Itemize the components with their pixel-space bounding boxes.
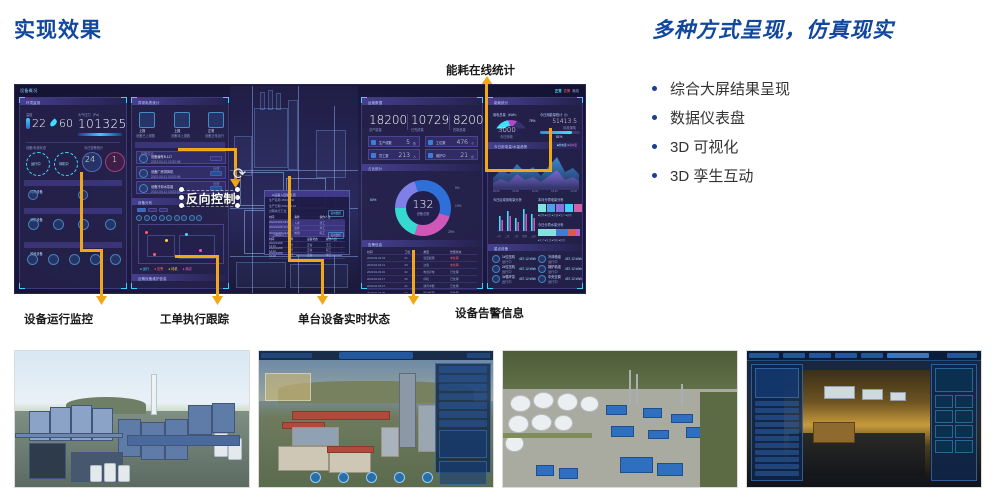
tab[interactable] <box>137 208 146 212</box>
card-field-key: 生产名称 <box>269 198 281 202</box>
tab[interactable] <box>148 208 157 212</box>
info-card-left[interactable] <box>265 373 311 401</box>
list-item-name: 设备冷却水泵组 <box>151 184 173 189</box>
panel-header: 环境监测 <box>20 98 126 105</box>
panel-header: 异常电表统计 <box>132 98 228 105</box>
legend-label: 照明 <box>539 214 544 217</box>
td: 2022/04-03:17 <box>367 277 405 281</box>
donut-slice-label-0: 60% <box>370 198 376 202</box>
device-value: 457.12 kWh <box>519 267 536 271</box>
tile-sub: 设备待上报数 <box>171 133 190 138</box>
thumbnail-strip <box>14 350 986 488</box>
metric-label: 工位数 <box>436 140 446 145</box>
metric-chip: 工位数 476 个 <box>425 136 478 147</box>
tick: 二区 <box>505 234 510 238</box>
flow-line <box>412 250 415 297</box>
tick: 四区 <box>522 234 527 238</box>
donut-header: 占比统计 <box>362 164 482 171</box>
slice-pct: 25% <box>448 230 454 234</box>
selection-handle[interactable] <box>179 187 184 192</box>
metric-value: 213 <box>399 152 410 159</box>
map-legend: ● 运行 ● 告警 ● 待机 ● 离线 <box>140 266 192 271</box>
feature-list: 综合大屏结果呈现 数据仪表盘 3D 可视化 3D 孪生互动 <box>652 74 982 190</box>
flow-line <box>175 255 219 258</box>
list-item-name: 设备厂房排风机 <box>151 169 173 174</box>
slice-pct: 5% <box>455 186 460 190</box>
device-icon <box>538 275 546 283</box>
bullet-dot-icon <box>652 173 657 178</box>
legend-item: ● 待机 <box>168 266 177 271</box>
kpi-label: 总产能量 <box>369 127 382 132</box>
bar-xaxis: 一区 二区 三区 四区 五区 <box>496 234 536 238</box>
td: 2022/04-03:02 <box>367 270 405 274</box>
selection-handle[interactable] <box>179 195 184 200</box>
metric-label: 生产线数 <box>379 140 392 145</box>
map-zone <box>147 235 175 257</box>
side-panel[interactable] <box>435 363 491 473</box>
donut-slice-label-3: 25% <box>448 230 454 234</box>
title-plate <box>339 352 414 359</box>
group-header-fire: 消防设备 <box>24 208 122 214</box>
th: 时间 <box>269 237 288 241</box>
td-status: 已处理 <box>450 284 477 288</box>
td: 电流异常 <box>423 270 450 274</box>
bullet-dot-icon <box>652 144 657 149</box>
status-alarm: 告警 <box>564 89 571 93</box>
legend-item: ● 离线 <box>183 266 192 271</box>
td: 李工 <box>326 253 345 257</box>
table-row: 2022/04/08 15:08 运行 正常 李工 <box>269 253 345 258</box>
corner-icon <box>477 97 483 103</box>
td: 正常 <box>307 253 326 257</box>
device-icon <box>105 219 116 230</box>
device-icon <box>538 265 546 273</box>
td: 李工 <box>320 226 345 230</box>
list-item: 3#循环泵 运行中 457.12 kWh <box>492 274 536 284</box>
th: 类型 <box>423 250 450 254</box>
bullet-dot-icon <box>652 86 657 91</box>
flow-line <box>80 172 83 252</box>
th: 操作人员 <box>326 237 345 241</box>
corner-icon <box>131 97 137 103</box>
td: 振动超限 <box>423 291 450 294</box>
card-title: A设备入园信息流 <box>265 191 349 197</box>
flow-line <box>549 128 552 172</box>
group-header-other: 其他设备 <box>24 242 122 248</box>
stack-bar <box>538 229 580 236</box>
th: 操作人员 <box>320 215 345 219</box>
bar-title: 今日区域用电量分析 <box>493 197 522 202</box>
table-header-row: 时间 工位 类型 告警状态 <box>367 249 477 254</box>
device-icon <box>28 190 38 200</box>
rate-pct: 81% <box>556 135 562 139</box>
device-icon <box>139 154 148 163</box>
gauge-value: 3000 <box>498 126 516 134</box>
table-row: 2022/04-04:05 04 振动超限 已处理 <box>367 289 477 294</box>
humidity-icon <box>49 118 58 127</box>
list-item-label: 3D 孪生互动 <box>670 165 753 186</box>
th: 时间 <box>367 250 405 254</box>
list-item: 1#空压机 运行中 457.12 kWh <box>492 254 536 264</box>
layout-tabs[interactable] <box>137 208 168 212</box>
rate-title: 今日用能量统计（t） <box>540 112 570 117</box>
corner-icon <box>121 97 127 103</box>
table-row: 2022/04-02:41 03 过载 未处理 <box>367 261 477 268</box>
flow-line <box>100 249 103 297</box>
corner-icon <box>19 283 25 289</box>
corner-icon <box>223 97 229 103</box>
legend-item: ● 运行 <box>140 266 149 271</box>
td: 2022/04-02:41 <box>367 263 405 267</box>
callout-label-0: 设备运行监控 <box>24 311 93 327</box>
flow-line <box>288 259 324 262</box>
corner-icon <box>223 283 229 289</box>
metric-unit: 条 <box>413 141 416 146</box>
action-button[interactable]: 处理 <box>210 171 222 176</box>
gauge-sub: 今日用电 <box>500 134 513 139</box>
group-header-common: 共用设备 <box>24 180 122 186</box>
device-value: 457.12 kWh <box>565 277 582 281</box>
td: 温度超限 <box>423 256 450 260</box>
trend-legend: ■用电量 ■用水量 <box>557 143 577 147</box>
pressure-value: 101325 <box>78 117 127 131</box>
table-row: 2022/04-03:17 05 停机 已处理 <box>367 275 477 282</box>
topbar <box>259 351 493 360</box>
device-value: 457.12 kWh <box>565 267 582 271</box>
device-icon <box>139 184 148 193</box>
flow-line <box>485 169 552 172</box>
left-panel[interactable] <box>751 364 803 481</box>
card-field-key: 生产日期 <box>269 204 281 208</box>
list-item-time: 2022-04-11 10:32:08 <box>151 160 180 164</box>
corner-icon <box>131 283 137 289</box>
map-marker <box>145 231 148 234</box>
trend-xaxis: 00:00 06:00 12:00 18:00 24:00 <box>493 190 577 193</box>
floor-dot[interactable] <box>136 215 142 221</box>
flow-line <box>485 82 488 172</box>
td: 出库 <box>294 226 319 230</box>
td: 王工 <box>326 243 345 247</box>
device-sub: 运行中 <box>502 279 519 284</box>
legend-label: 生活 <box>546 239 551 242</box>
rate-progress-fill <box>540 131 572 134</box>
table-row: 2022/04-02:33 01 温度超限 未处理 <box>367 254 477 261</box>
slice-pct: 10% <box>455 204 461 208</box>
corner-icon <box>361 97 367 103</box>
td: 2022/04-02:33 <box>367 256 405 260</box>
legend-item: ● 告警 <box>154 266 163 271</box>
legend-label: 消防 <box>553 239 558 242</box>
th: 事件 <box>294 215 319 219</box>
tile-icon <box>139 112 155 128</box>
tick: 18:00 <box>551 190 558 193</box>
card-field: 生产名称 25647890 <box>269 198 349 202</box>
metric-unit: 台 <box>471 154 474 159</box>
corner-icon <box>121 283 127 289</box>
region-bar-chart <box>493 206 535 234</box>
td: 正常 <box>307 248 326 252</box>
list-item[interactable]: 设备编号B-117 2022-04-11 10:32:08 处理 <box>136 151 226 164</box>
metric-chip: 生产线数 5 条 <box>368 136 420 147</box>
metric-value: 21 <box>460 152 468 159</box>
kpi-label: 已完成量 <box>411 127 424 132</box>
panel-header: 运营数据 <box>362 98 482 105</box>
td: 检测 <box>294 231 319 235</box>
list-item: 综合大屏结果呈现 <box>652 74 982 103</box>
heat-title: 本月分项电量分布 <box>538 197 564 202</box>
device-icon <box>492 265 500 273</box>
tower <box>399 373 415 448</box>
rate-progress-track <box>540 131 580 134</box>
floor <box>789 433 925 477</box>
status-offline: 离线 <box>572 89 579 93</box>
list-item-time: 2022-04-11 10:03:08 <box>151 190 180 194</box>
floor-dot[interactable] <box>159 215 165 221</box>
td: 过载 <box>423 263 450 267</box>
card-field: 生产日期 2022-04-10 <box>269 204 349 208</box>
arrow-down-icon <box>408 294 419 305</box>
donut-slice-label-1: 5% <box>455 186 460 190</box>
panel-environment: 环境监测 温度 22 60 大气压力（Pa） 101325 设备/系统状态 运行… <box>19 97 127 289</box>
metric-value: 5 <box>406 139 410 146</box>
action-button[interactable]: 处理 <box>210 156 222 161</box>
heat-legend: ■照明 ■动力 ■空调 ■生产 ■其他 <box>538 214 580 218</box>
slide-root: 实现效果 多种方式呈现，仿真现实 综合大屏结果呈现 数据仪表盘 3D 可视化 3… <box>0 0 1000 498</box>
floorplan-map[interactable] <box>138 224 224 264</box>
tick: 一区 <box>496 234 501 238</box>
floor-dot[interactable] <box>151 215 157 221</box>
legend-label: 其他 <box>567 214 572 217</box>
topbar <box>747 351 981 361</box>
td: 程工 <box>326 248 345 252</box>
flow-line <box>216 255 219 297</box>
menu-group <box>261 353 312 358</box>
legend-label: 其他 <box>560 239 565 242</box>
page-title-left: 实现效果 <box>14 14 102 44</box>
callout-label-2: 单台设备实时状态 <box>298 311 390 327</box>
run-state-a-label: 运行中 <box>31 161 41 166</box>
td: 正常 <box>307 243 326 247</box>
tick: 三区 <box>514 234 519 238</box>
list-item[interactable]: 设备厂房排风机 2022-04-11 10:22:56 处理 <box>136 166 226 179</box>
humidity-value: 60 <box>59 117 73 130</box>
floor-dot[interactable] <box>181 215 187 221</box>
metric-chip: 员工数 213 人 <box>368 149 420 160</box>
overlay-label-reverse-control: 反向控制 <box>186 190 236 207</box>
rate-unit: 标准煤吨 <box>563 125 576 130</box>
divider <box>449 114 450 130</box>
stack-legend: ■生产 ■生活 ■消防 ■其他 <box>538 238 565 242</box>
tile-sub: 设备已上报数 <box>136 133 155 138</box>
corner-icon <box>19 97 25 103</box>
metric-unit: 人 <box>413 154 416 159</box>
metric-icon <box>371 153 376 158</box>
panel-operations: 运营数据 18200 总产能量 10729 已完成量 8200 在制品量 生产线… <box>361 97 483 289</box>
temperature-value: 22 <box>32 117 46 130</box>
device-icon <box>139 169 148 178</box>
legend-label: 生产 <box>539 239 544 242</box>
th: 告警状态 <box>450 250 477 254</box>
td-status: 已处理 <box>450 270 477 274</box>
legend-label: 生产 <box>560 214 565 217</box>
dashboard-title: 设备概况 <box>20 88 38 94</box>
thumbnail-warehouse-twin[interactable] <box>746 350 982 488</box>
device-value: 457.12 kWh <box>565 257 582 261</box>
thumbnail-refinery-aerial[interactable] <box>502 350 738 488</box>
stack-title: 今日分项水量分布 <box>538 222 564 227</box>
alarm-critical-value: 1 <box>112 155 117 164</box>
metric-label: 员工数 <box>379 153 389 158</box>
panel-header: 能耗统计 <box>488 98 582 105</box>
flow-line <box>178 148 237 151</box>
td-status: 未处理 <box>450 256 477 260</box>
rate-value: 51413.5 <box>552 118 577 125</box>
td: 2022/04-03:47 <box>367 284 405 288</box>
pallet-stack <box>813 422 855 444</box>
list-item-time: 2022-04-11 10:22:56 <box>151 175 180 179</box>
device-value: 457.12 kWh <box>519 277 536 281</box>
arrow-down-icon <box>96 294 107 305</box>
chimney <box>151 374 157 415</box>
device-icon <box>48 254 59 265</box>
gauge-pct: 75% <box>529 119 535 123</box>
corner-icon <box>577 97 583 103</box>
legend-label: 用水量 <box>569 144 577 147</box>
runstate-label: 设备/系统状态 <box>26 145 46 150</box>
corner-icon <box>477 283 483 289</box>
legend-label: 用电量 <box>559 144 567 147</box>
heat-blocks <box>538 204 582 212</box>
alarm-table-header: 告警信息 <box>362 240 482 247</box>
run-state-b-label: 待机中 <box>59 161 69 166</box>
metric-value: 476 <box>457 139 468 146</box>
donut-center-label: 设备总数 <box>395 211 451 216</box>
device-icon <box>492 275 500 283</box>
page-title-right: 多种方式呈现，仿真现实 <box>652 14 894 44</box>
tick: 00:00 <box>493 190 500 193</box>
kpi-value: 18200 <box>369 113 407 127</box>
metric-chip: 维护中 21 台 <box>425 149 478 160</box>
td-status: 已处理 <box>450 277 477 281</box>
device-icon <box>27 254 38 265</box>
callout-label-1: 工单执行跟踪 <box>160 311 229 327</box>
right-panel[interactable] <box>931 364 977 481</box>
td-status: 已处理 <box>450 291 477 294</box>
table-row: 2022/04-03:02 02 电流异常 已处理 <box>367 268 477 275</box>
legend-label: 空调 <box>553 214 558 217</box>
table-row: 2022/04-03:47 01 通讯中断 已处理 <box>367 282 477 289</box>
metric-icon <box>428 153 433 158</box>
key-device-col-left: 1#空压机 运行中 457.12 kWh 2#空压机 运行中 457.12 kW… <box>492 254 536 284</box>
donut-slice-label-2: 10% <box>455 204 461 208</box>
flow-line <box>321 259 324 297</box>
floor-dot[interactable] <box>196 215 202 221</box>
device-icon <box>110 254 121 265</box>
donut-center-value: 132 <box>395 198 451 211</box>
callout-label-3: 设备告警信息 <box>455 305 524 321</box>
floor-dot[interactable] <box>144 215 150 221</box>
tick: 06:00 <box>512 190 519 193</box>
alarm-count-value: 24 <box>85 155 95 164</box>
divider <box>407 114 408 130</box>
kpi-value: 8200 <box>453 113 484 127</box>
tile-icon <box>208 112 224 128</box>
floor-dot[interactable] <box>174 215 180 221</box>
floor-dot[interactable] <box>166 215 172 221</box>
list-item: 中央空调 运行中 457.12 kWh <box>538 274 582 284</box>
tab[interactable] <box>159 208 168 212</box>
td-status: 未处理 <box>450 263 477 267</box>
td: 2022/04-04:05 <box>367 291 405 294</box>
td: 停机 <box>423 277 450 281</box>
list-item: 3D 可视化 <box>652 132 982 161</box>
device-icon <box>492 255 500 263</box>
list-item-name: 设备编号B-117 <box>151 154 172 159</box>
refresh-rotate-icon[interactable]: ⟳ <box>231 166 248 183</box>
metric-label: 维护中 <box>436 153 446 158</box>
slice-pct: 60% <box>370 198 376 202</box>
pressure-bar <box>78 133 122 136</box>
arrow-down-icon <box>212 294 223 305</box>
status-normal: 正常 <box>555 89 562 93</box>
thermometer-icon <box>26 118 30 129</box>
tick: 12:00 <box>532 190 539 193</box>
dashboard-status-legend: 正常 告警 离线 <box>555 88 579 93</box>
td: 张工 <box>320 221 345 225</box>
list-item-label: 综合大屏结果呈现 <box>670 78 790 99</box>
list-item: 冷却塔组 运行中 457.12 kWh <box>538 254 582 264</box>
maint-table-header: 近期设备维护信息 <box>132 274 228 281</box>
arrow-down-icon <box>317 294 328 305</box>
card-table-2: 时间 事件 设备状态 操作人员 2022/04/08 13:10 运行 正常 王… <box>269 237 345 259</box>
metric-icon <box>371 140 376 145</box>
legend-label: 动力 <box>546 214 551 217</box>
list-item-label: 数据仪表盘 <box>670 107 745 128</box>
tile-icon <box>174 112 190 128</box>
divider <box>26 142 120 143</box>
list-item: 锅炉机组 运行中 457.12 kWh <box>538 264 582 274</box>
thumbnail-cement-plant-twin[interactable] <box>258 350 494 488</box>
donut-chart: 132 设备总数 <box>395 180 451 236</box>
thumbnail-chemical-plant-3d[interactable] <box>14 350 250 488</box>
menu-group <box>467 353 490 358</box>
list-item: 数据仪表盘 <box>652 103 982 132</box>
floor-dot[interactable] <box>189 215 195 221</box>
forest <box>503 351 737 392</box>
alarm-stat-label: 今日告警统计 <box>84 145 103 150</box>
bottom-nav[interactable] <box>310 472 436 484</box>
list-item-label: 3D 可视化 <box>670 136 738 157</box>
bullet-dot-icon <box>652 115 657 120</box>
gauge-title: 用电总量（kWh） <box>493 112 519 117</box>
selection-handle[interactable] <box>179 203 184 208</box>
alarm-table: 时间 工位 类型 告警状态 2022/04-02:33 01 温度超限 未处理 … <box>367 249 477 294</box>
device-icon <box>53 219 64 230</box>
metric-unit: 个 <box>471 141 474 146</box>
model-info-card[interactable]: A设备入园信息流 生产名称 25647890 生产日期 2022-04-10 过… <box>264 190 350 255</box>
kpi-label: 在制品量 <box>453 127 466 132</box>
tick: 24:00 <box>571 190 578 193</box>
th: 设备状态 <box>307 237 326 241</box>
device-icon <box>69 254 80 265</box>
floor-selector[interactable] <box>136 215 202 221</box>
key-device-col-right: 冷却塔组 运行中 457.12 kWh 锅炉机组 运行中 457.12 kWh <box>538 254 582 284</box>
flow-line <box>288 176 291 262</box>
panel-energy: 能耗统计 用电总量（kWh） 3000 今日用电 75% 今日用能量统计（t） … <box>487 97 583 289</box>
device-sub: 运行中 <box>548 279 565 284</box>
keydevice-header: 重点设备 <box>488 244 582 251</box>
tile-sub: 设备正常运行 <box>205 133 224 138</box>
